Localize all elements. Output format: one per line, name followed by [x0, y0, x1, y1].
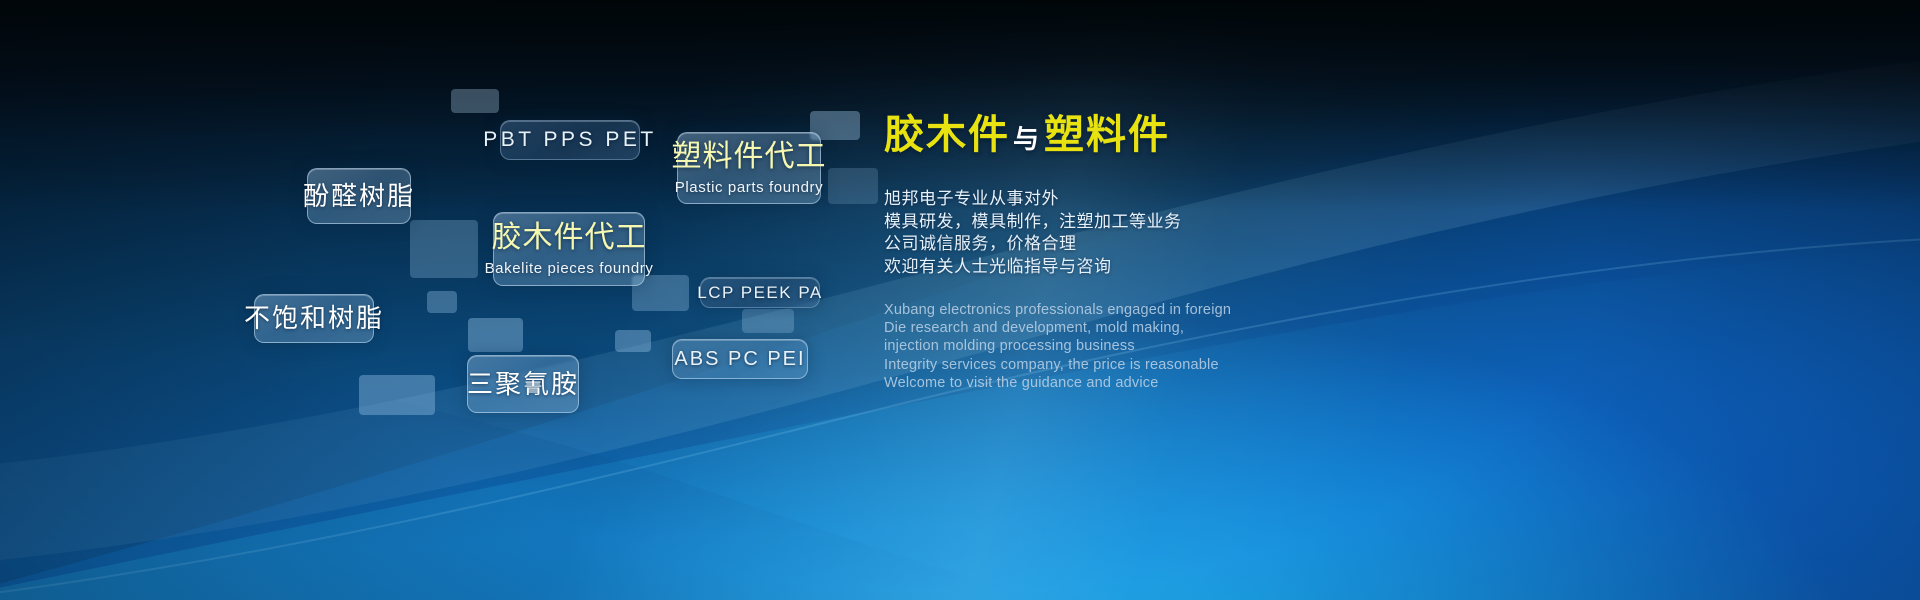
chip-abs-pc-pei[interactable]: ABS PC PEI [672, 339, 808, 379]
chip-bakelite-pieces-foundry[interactable]: 胶木件代工 Bakelite pieces foundry [493, 212, 645, 286]
headline-part1: 胶木件 [884, 113, 1010, 157]
description-cn-line: 旭邦电子专业从事对外 [884, 188, 1524, 211]
chip-label: 不饱和树脂 [244, 304, 384, 333]
chip-label: ABS PC PEI [674, 348, 805, 371]
chip-phenolic-resin[interactable]: 酚醛树脂 [307, 168, 411, 224]
description-en-line: Welcome to visit the guidance and advice [884, 374, 1524, 392]
chip-melamine[interactable]: 三聚氰胺 [467, 355, 579, 413]
description-cn-line: 欢迎有关人士光临指导与咨询 [884, 256, 1524, 279]
chip-title-cn: 胶木件代工 [492, 221, 647, 254]
description-cn-line: 模具研发，模具制作，注塑加工等业务 [884, 211, 1524, 234]
chip-unsaturated-resin[interactable]: 不饱和树脂 [254, 294, 374, 343]
description-en-line: Integrity services company, the price is… [884, 356, 1524, 374]
description-cn-line: 公司诚信服务，价格合理 [884, 233, 1524, 256]
chip-plastic-parts-foundry[interactable]: 塑料件代工 Plastic parts foundry [677, 132, 821, 204]
chip-lcp-peek-pa[interactable]: LCP PEEK PA [700, 277, 820, 308]
description-en-line: Xubang electronics professionals engaged… [884, 301, 1524, 319]
description-en-line: Die research and development, mold makin… [884, 319, 1524, 337]
chip-title-en: Bakelite pieces foundry [485, 261, 654, 278]
description-english: Xubang electronics professionals engaged… [884, 301, 1524, 392]
chip-pbt-pps-pet[interactable]: PBT PPS PET [500, 120, 640, 160]
chip-label: 酚醛树脂 [303, 182, 415, 211]
page-title: 胶木件与塑料件 [884, 112, 1524, 158]
chip-label: LCP PEEK PA [697, 283, 822, 303]
chip-title-en: Plastic parts foundry [675, 180, 824, 197]
chip-title-cn: 塑料件代工 [672, 140, 827, 173]
chip-label: PBT PPS PET [483, 128, 657, 152]
headline-conjunction: 与 [1010, 124, 1044, 154]
description-en-line: injection molding processing business [884, 337, 1524, 355]
copy-column: 胶木件与塑料件 旭邦电子专业从事对外 模具研发，模具制作，注塑加工等业务 公司诚… [884, 112, 1524, 392]
description-chinese: 旭邦电子专业从事对外 模具研发，模具制作，注塑加工等业务 公司诚信服务，价格合理… [884, 188, 1524, 278]
promo-banner: PBT PPS PET 酚醛树脂 不饱和树脂 三聚氰胺 LCP PEEK PA … [0, 0, 1920, 600]
chip-label: 三聚氰胺 [467, 370, 579, 399]
headline-part2: 塑料件 [1044, 113, 1170, 157]
